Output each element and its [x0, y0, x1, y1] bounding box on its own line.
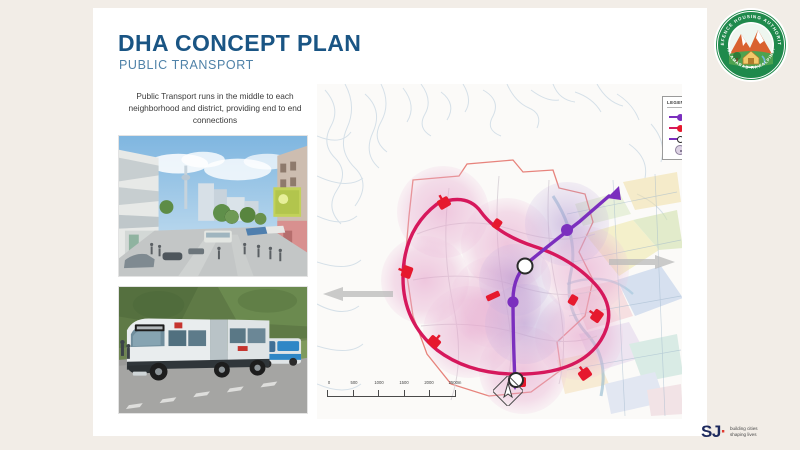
map-canvas [317, 84, 682, 419]
dha-logo: DEFENCE HOUSING AUTHORITY ISLAMABAD-RAWA… [712, 6, 790, 84]
urban-street-rendering [118, 135, 308, 277]
scale-label-500: 500 [351, 380, 358, 385]
scale-label-0: 0 [328, 380, 330, 385]
scale-label-2000: 2000 [424, 380, 433, 385]
page-title: DHA CONCEPT PLAN [118, 30, 361, 57]
sj-logo-dot: · [721, 422, 726, 441]
map-scale-bar: 0 500 1000 1500 2000 2500m [327, 380, 482, 408]
page-subtitle: PUBLIC TRANSPORT [119, 58, 254, 72]
slide-panel: DHA CONCEPT PLAN PUBLIC TRANSPORT Public… [93, 8, 707, 436]
sj-logo: SJ· building cities shaping lives [701, 420, 793, 444]
legend-item-transit-radius[interactable]: Transit Radius (610m/2000 ft) [667, 144, 682, 155]
legend-item-line-2[interactable]: Line 2 & Station [667, 122, 682, 133]
line-1-symbol-icon [667, 111, 682, 122]
transit-radius-symbol-icon [667, 144, 682, 155]
sj-logo-mark: SJ· [701, 422, 726, 442]
scale-label-1500: 1500 [399, 380, 408, 385]
sj-tagline-line1: building cities [730, 426, 758, 431]
line-2-symbol-icon [667, 122, 682, 133]
caption-text: Public Transport runs in the middle to e… [115, 90, 315, 126]
north-arrow-icon [493, 376, 523, 406]
legend-title: LEGEND [667, 100, 682, 108]
scale-label-2500: 2500m [449, 380, 462, 385]
scale-label-1000: 1000 [374, 380, 383, 385]
map-legend: LEGEND Line 1 & Station Line 2 & Station [662, 96, 682, 160]
concept-plan-map[interactable]: LEGEND Line 1 & Station Line 2 & Station [317, 84, 682, 419]
legend-item-line-1[interactable]: Line 1 & Station [667, 111, 682, 122]
legend-item-interchange[interactable]: Interchange Station [667, 133, 682, 144]
brt-bus-photo [118, 286, 308, 414]
sj-tagline-line2: shaping lives [730, 432, 757, 437]
sj-logo-tagline: building cities shaping lives [730, 426, 758, 438]
interchange-symbol-icon [667, 133, 682, 144]
